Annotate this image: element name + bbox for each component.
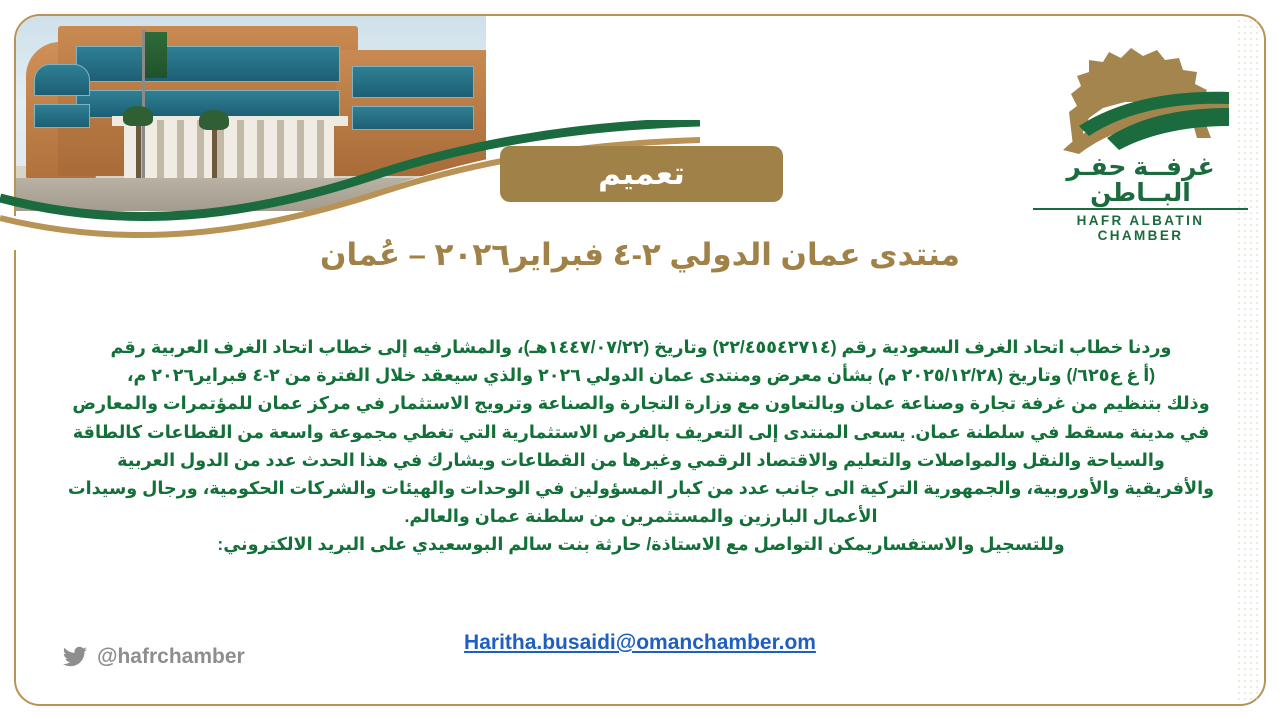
chamber-building-photo — [16, 16, 486, 211]
body-line-1: وردنا خطاب اتحاد الغرف السعودية رقم (٢٢/… — [62, 333, 1220, 361]
page-title: منتدى عمان الدولي ٢-٤ فبراير٢٠٢٦ – عُمان — [0, 237, 1280, 273]
body-line-7: الأعمال البارزين والمستثمرين من سلطنة عم… — [62, 502, 1220, 530]
logo-arabic-name: غرفــة حفـر البــاطن — [1033, 154, 1248, 210]
social-handle-text: @hafrchamber — [97, 645, 245, 669]
announcement-canvas: تعميم غرفــة حفـر البــاطن HAFR ALBATIN … — [0, 0, 1280, 720]
chamber-logo: غرفــة حفـر البــاطن HAFR ALBATIN CHAMBE… — [1033, 42, 1248, 207]
body-line-5: والسياحة والنقل والمواصلات والتعليم والا… — [62, 446, 1220, 474]
circular-badge-label: تعميم — [598, 156, 685, 192]
twitter-bird-icon — [62, 646, 88, 668]
body-line-8: وللتسجيل والاستفساريمكن التواصل مع الاست… — [62, 530, 1220, 558]
contact-email-link[interactable]: Haritha.busaidi@omanchamber.om — [464, 631, 816, 654]
body-line-3: وذلك بتنظيم من غرفة تجارة وصناعة عمان وب… — [62, 389, 1220, 417]
chamber-arch-logo-icon — [1033, 42, 1248, 154]
body-line-2: (أ غ ع٦٢٥/) وتاريخ (٢٠٢٥/١٢/٢٨ م) بشأن م… — [62, 361, 1220, 389]
body-text: وردنا خطاب اتحاد الغرف السعودية رقم (٢٢/… — [62, 333, 1220, 559]
circular-badge: تعميم — [500, 146, 783, 202]
social-handle[interactable]: @hafrchamber — [62, 645, 245, 669]
body-line-6: والأفريقية والأوروبية، والجمهورية التركي… — [62, 474, 1220, 502]
body-line-4: في مدينة مسقط في سلطنة عمان. يسعى المنتد… — [62, 418, 1220, 446]
